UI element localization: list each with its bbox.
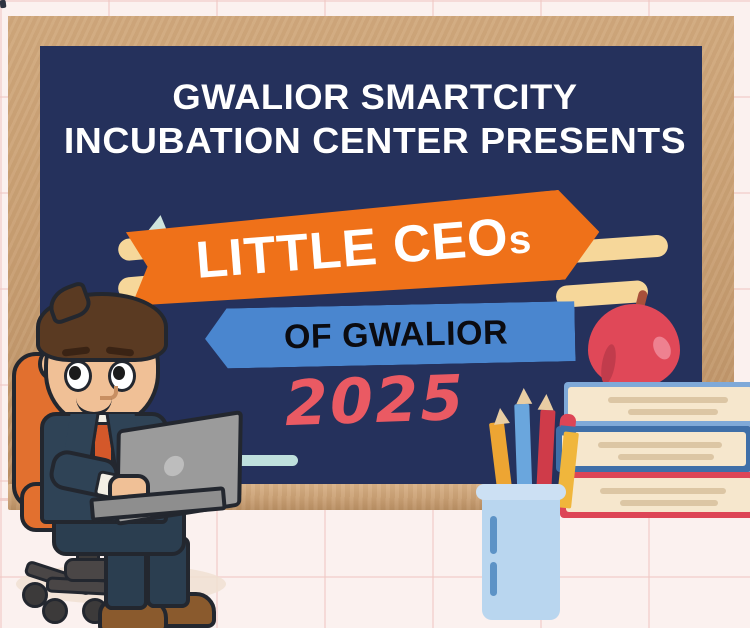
page-line	[620, 500, 718, 506]
apple-shadow	[599, 343, 619, 385]
blue-book	[556, 426, 750, 472]
book-stack	[556, 382, 750, 514]
ribbon-suffix-text: s	[507, 217, 534, 263]
page-line	[628, 409, 718, 415]
headline-line-2: INCUBATION CENTER PRESENTS	[0, 119, 750, 162]
page-title: GWALIOR SMARTCITY INCUBATION CENTER PRES…	[0, 76, 750, 162]
headline-line-1: GWALIOR SMARTCITY	[172, 78, 577, 117]
jar-stripe	[490, 562, 497, 596]
book-pages	[562, 432, 746, 466]
pencil-jar	[482, 492, 560, 620]
chair-caster	[42, 598, 68, 624]
poster-canvas: GWALIOR SMARTCITY INCUBATION CENTER PRES…	[0, 0, 750, 628]
jar-rim	[476, 484, 566, 500]
pencil-tip-icon	[516, 388, 533, 405]
apple-icon	[588, 290, 680, 388]
book-pages	[566, 478, 750, 512]
pencil-tip-icon	[492, 407, 510, 425]
apple-highlight	[650, 334, 675, 363]
page-line	[618, 454, 714, 460]
page-line	[598, 442, 722, 448]
jar-stripe	[490, 516, 497, 554]
pencil-tip-icon	[538, 394, 555, 411]
book-pages	[568, 387, 750, 421]
page-line	[600, 488, 726, 494]
blue-ribbon-text: OF GWALIOR	[284, 313, 509, 357]
pupil	[69, 366, 81, 380]
page-line	[608, 397, 728, 403]
apple-body	[588, 304, 680, 388]
boy-with-laptop-illustration	[6, 286, 242, 622]
light-blue-book	[564, 382, 750, 426]
red-book	[560, 472, 750, 518]
pencil-lead-icon	[0, 0, 6, 8]
pupil	[113, 366, 125, 380]
